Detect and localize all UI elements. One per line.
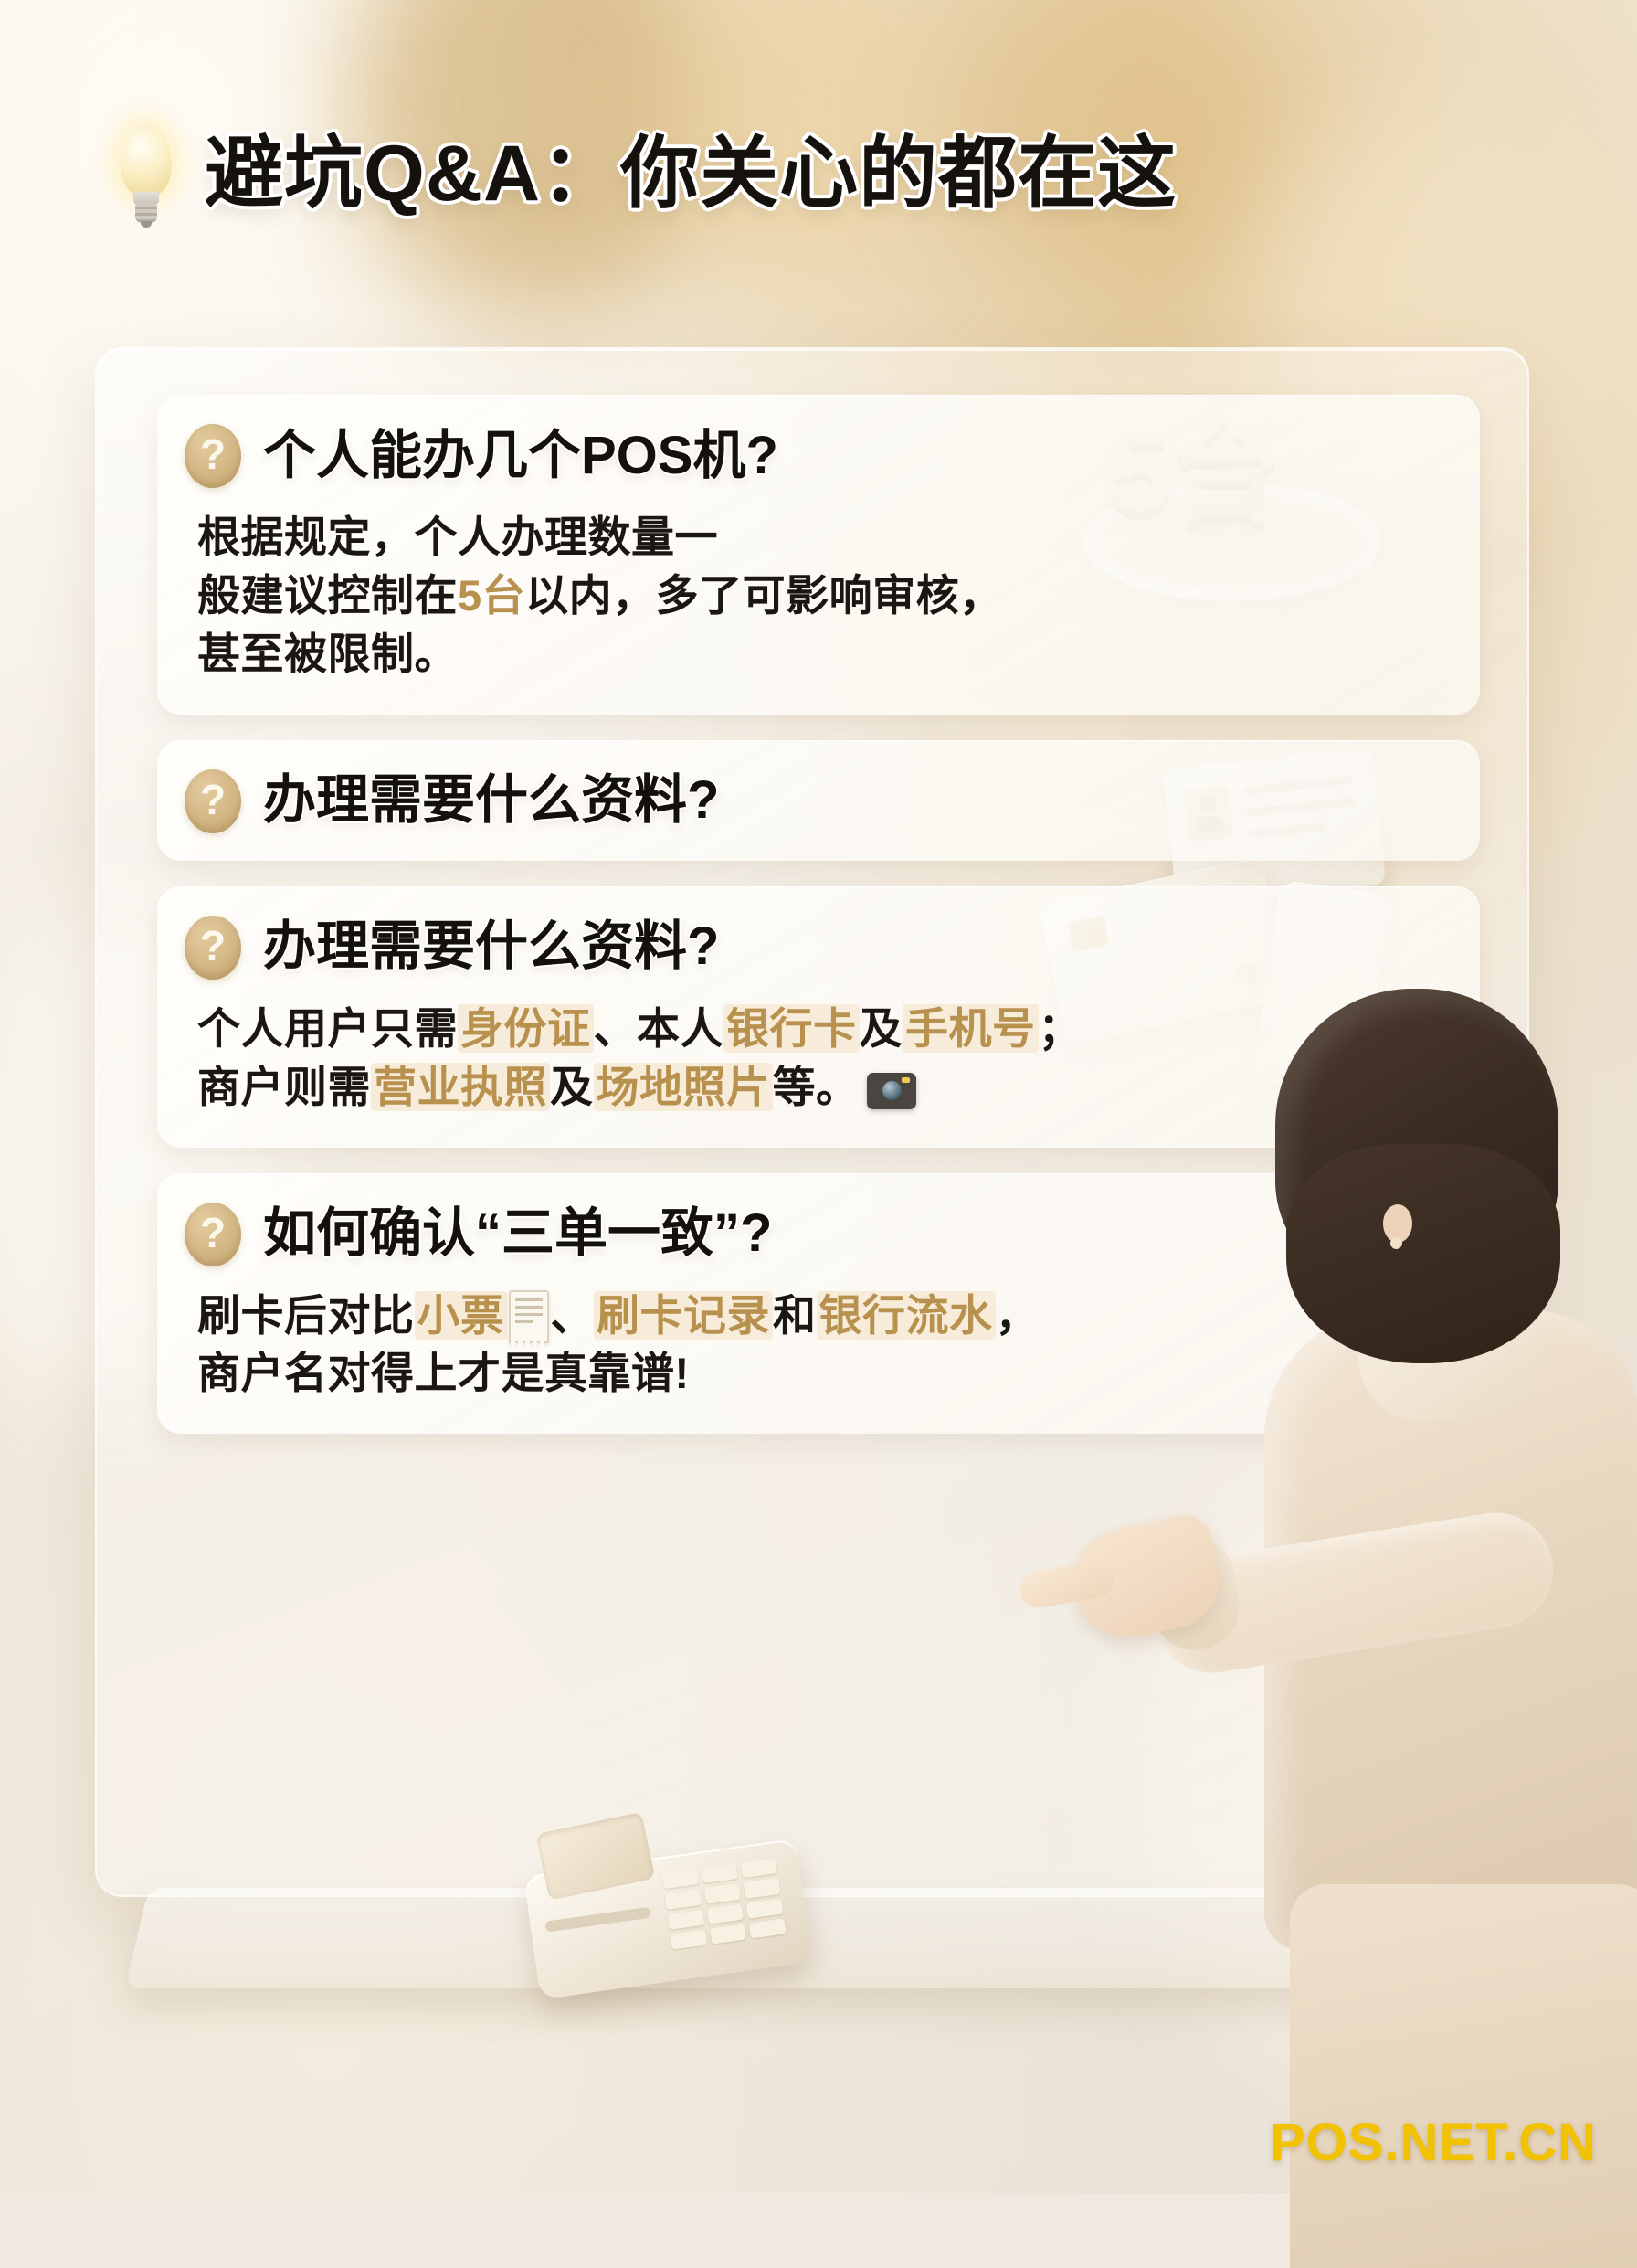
page-header: 避坑Q&A：你关心的都在这 [0, 110, 1637, 238]
answer-keyword: 场地照片 [594, 1063, 773, 1111]
question-text: 个人能办几个POS机? [259, 427, 782, 486]
watermark: POS.NET.CN [1270, 2112, 1597, 2173]
page-title: 避坑Q&A：你关心的都在这 [205, 134, 1177, 213]
camera-icon [867, 1073, 916, 1109]
question-text: 如何确认“三单一致”? [259, 1204, 776, 1264]
question-mark-icon: ? [185, 1203, 241, 1266]
qa-card[interactable]: ? 个人能办几个POS机? 根据规定，个人办理数量一 般建议控制在5台以内，多了… [157, 395, 1480, 715]
answer-keyword: 小票 [415, 1291, 507, 1340]
question-mark-icon: ? [185, 916, 241, 980]
character-skirt [1290, 1884, 1637, 2268]
qa-card[interactable]: ? 办理需要什么资料? [157, 740, 1480, 861]
answer-keyword: 身份证 [458, 1004, 594, 1053]
question-row: ? 办理需要什么资料? [185, 916, 1445, 980]
answer-keyword: 手机号 [903, 1004, 1039, 1053]
character-hair [1275, 989, 1558, 1290]
question-text: 办理需要什么资料? [259, 917, 723, 977]
answer-keyword: 银行流水 [817, 1291, 996, 1340]
receipt-icon [509, 1290, 549, 1343]
answer-keyword: 银行卡 [723, 1004, 860, 1053]
question-mark-icon: ? [185, 769, 241, 833]
question-row: ? 办理需要什么资料? [185, 769, 1445, 833]
character-illustration [1180, 989, 1637, 2193]
question-text: 办理需要什么资料? [259, 771, 723, 831]
answer-keyword: 5台 [458, 571, 525, 620]
answer-keyword: 刷卡记录 [594, 1291, 773, 1340]
lightbulb-icon [108, 119, 185, 228]
answer-text: 根据规定，个人办理数量一 般建议控制在5台以内，多了可影响审核， 甚至被限制。 [197, 508, 1445, 684]
answer-keyword: 营业执照 [371, 1063, 550, 1111]
question-mark-icon: ? [185, 424, 241, 488]
character-ear [1383, 1204, 1412, 1243]
question-row: ? 个人能办几个POS机? [185, 424, 1445, 488]
